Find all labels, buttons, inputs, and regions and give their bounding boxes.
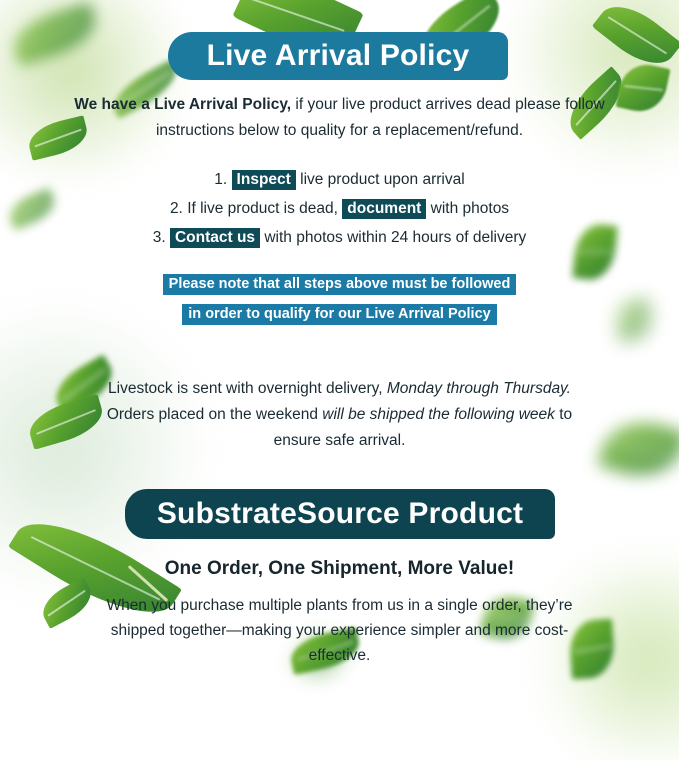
step-number: 1. bbox=[214, 171, 227, 188]
intro-paragraph: We have a Live Arrival Policy, if your l… bbox=[0, 92, 679, 144]
step-highlight: document bbox=[342, 199, 426, 219]
livestock-shipping-paragraph: Livestock is sent with overnight deliver… bbox=[0, 376, 679, 454]
policy-note-line-2: in order to qualify for our Live Arrival… bbox=[0, 306, 679, 322]
policy-step-1: 1. Inspect live product upon arrival bbox=[0, 167, 679, 192]
livestock-line1-plain: Livestock is sent with overnight deliver… bbox=[108, 380, 387, 397]
intro-bold-text: We have a Live Arrival Policy, bbox=[74, 96, 291, 113]
step-highlight: Inspect bbox=[232, 170, 296, 190]
policy-note-line-1: Please note that all steps above must be… bbox=[0, 276, 679, 292]
step-highlight: Contact us bbox=[170, 228, 260, 248]
livestock-line2-plain: Orders placed on the weekend bbox=[107, 406, 322, 423]
step-post-text: with photos within 24 hours of delivery bbox=[260, 229, 526, 246]
policy-step-2: 2. If live product is dead, document wit… bbox=[0, 196, 679, 221]
policy-document: Live Arrival Policy We have a Live Arriv… bbox=[0, 0, 679, 679]
step-number: 2. bbox=[170, 200, 183, 217]
step-post-text: with photos bbox=[426, 200, 509, 217]
substrate-tagline: One Order, One Shipment, More Value! bbox=[0, 558, 679, 580]
note-highlight: Please note that all steps above must be… bbox=[163, 274, 517, 295]
policy-step-3: 3. Contact us with photos within 24 hour… bbox=[0, 225, 679, 250]
livestock-line2-italic: will be shipped the following week bbox=[322, 406, 555, 423]
step-number: 3. bbox=[153, 229, 166, 246]
note-highlight: in order to qualify for our Live Arrival… bbox=[182, 304, 496, 325]
substrate-source-product-banner: SubstrateSource Product bbox=[125, 489, 555, 539]
step-pre-text: If live product is dead, bbox=[187, 200, 342, 217]
live-arrival-policy-banner: Live Arrival Policy bbox=[168, 32, 508, 80]
substrate-body-paragraph: When you purchase multiple plants from u… bbox=[0, 593, 679, 668]
livestock-line1-italic: Monday through Thursday. bbox=[387, 380, 571, 397]
step-post-text: live product upon arrival bbox=[296, 171, 465, 188]
